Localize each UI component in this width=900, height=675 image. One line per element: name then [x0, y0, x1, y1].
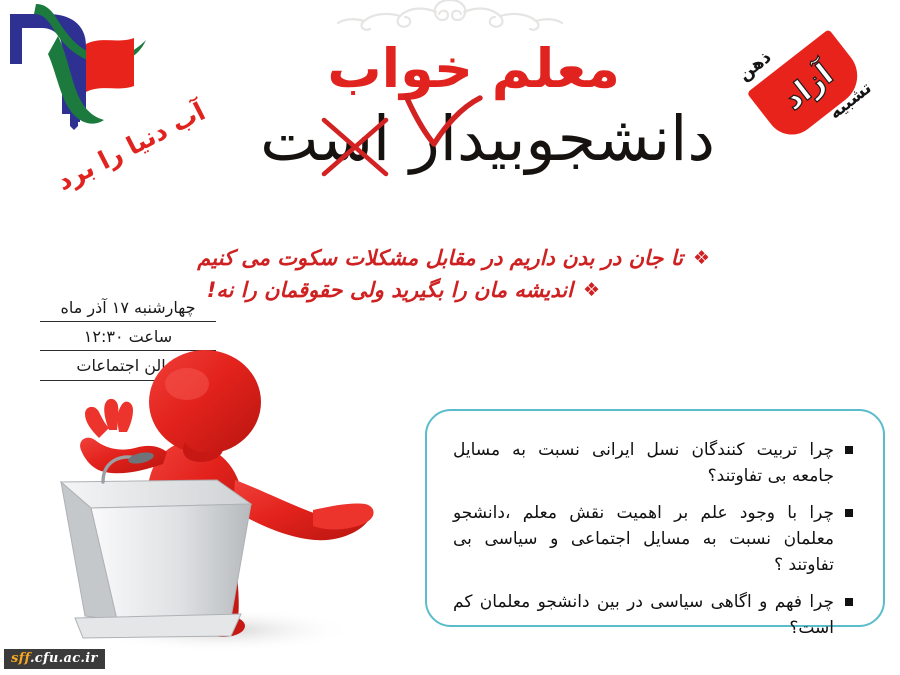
question-text: چرا فهم و اگاهی سیاسی در بین دانشجو معلم… [453, 589, 834, 642]
square-bullet-icon [845, 446, 853, 454]
question-text: چرا با وجود علم بر اهمیت نقش معلم ،دانشج… [453, 500, 834, 579]
headline-line-1: معلم خواب [327, 42, 620, 96]
headline-line-2: دانشجوبیدار است [260, 106, 715, 171]
diamond-bullet-icon: ❖ [583, 281, 600, 300]
event-date: چهارشنبه ۱۷ آذر ماه [40, 296, 216, 322]
watermark-suffix: .cfu.ac.ir [30, 651, 98, 666]
square-bullet-icon [845, 509, 853, 517]
slogan-item: ❖ تا جان در بدن داریم در مقابل مشکلات سک… [50, 243, 710, 275]
poster-canvas: آب دنیا را برد ذهن آزاد تشبیه معلم خواب … [0, 0, 900, 675]
headline-suffix: دار است [260, 102, 489, 175]
questions-box: چرا تربیت کنندگان نسل ایرانی نسبت به مسا… [425, 409, 885, 627]
free-thought-stamp: ذهن آزاد تشبیه [720, 2, 896, 172]
red-speaker-at-podium-illustration [45, 330, 385, 660]
question-text: چرا تربیت کنندگان نسل ایرانی نسبت به مسا… [453, 437, 834, 490]
headline-line-2-group: دانشجوبیدار است [260, 106, 715, 184]
watermark-prefix: sff [11, 651, 30, 666]
decorative-flourish-icon [320, 0, 580, 40]
headline-prefix: دانشجو [526, 102, 715, 175]
stamp-rotated-group: ذهن آزاد تشبیه [686, 0, 900, 208]
headline-crossed-word: بی [490, 102, 526, 175]
site-watermark: sff.cfu.ac.ir [4, 649, 105, 669]
square-bullet-icon [845, 598, 853, 606]
question-item: چرا فهم و اگاهی سیاسی در بین دانشجو معلم… [453, 589, 853, 642]
diamond-bullet-icon: ❖ [693, 249, 710, 268]
slogan-text: اندیشه مان را بگیرید ولی حقوقمان را نه! [207, 275, 573, 307]
question-item: چرا با وجود علم بر اهمیت نقش معلم ،دانشج… [453, 500, 853, 579]
question-item: چرا تربیت کنندگان نسل ایرانی نسبت به مسا… [453, 437, 853, 490]
slogan-text: تا جان در بدن داریم در مقابل مشکلات سکوت… [197, 243, 683, 275]
university-logo [8, 2, 158, 130]
